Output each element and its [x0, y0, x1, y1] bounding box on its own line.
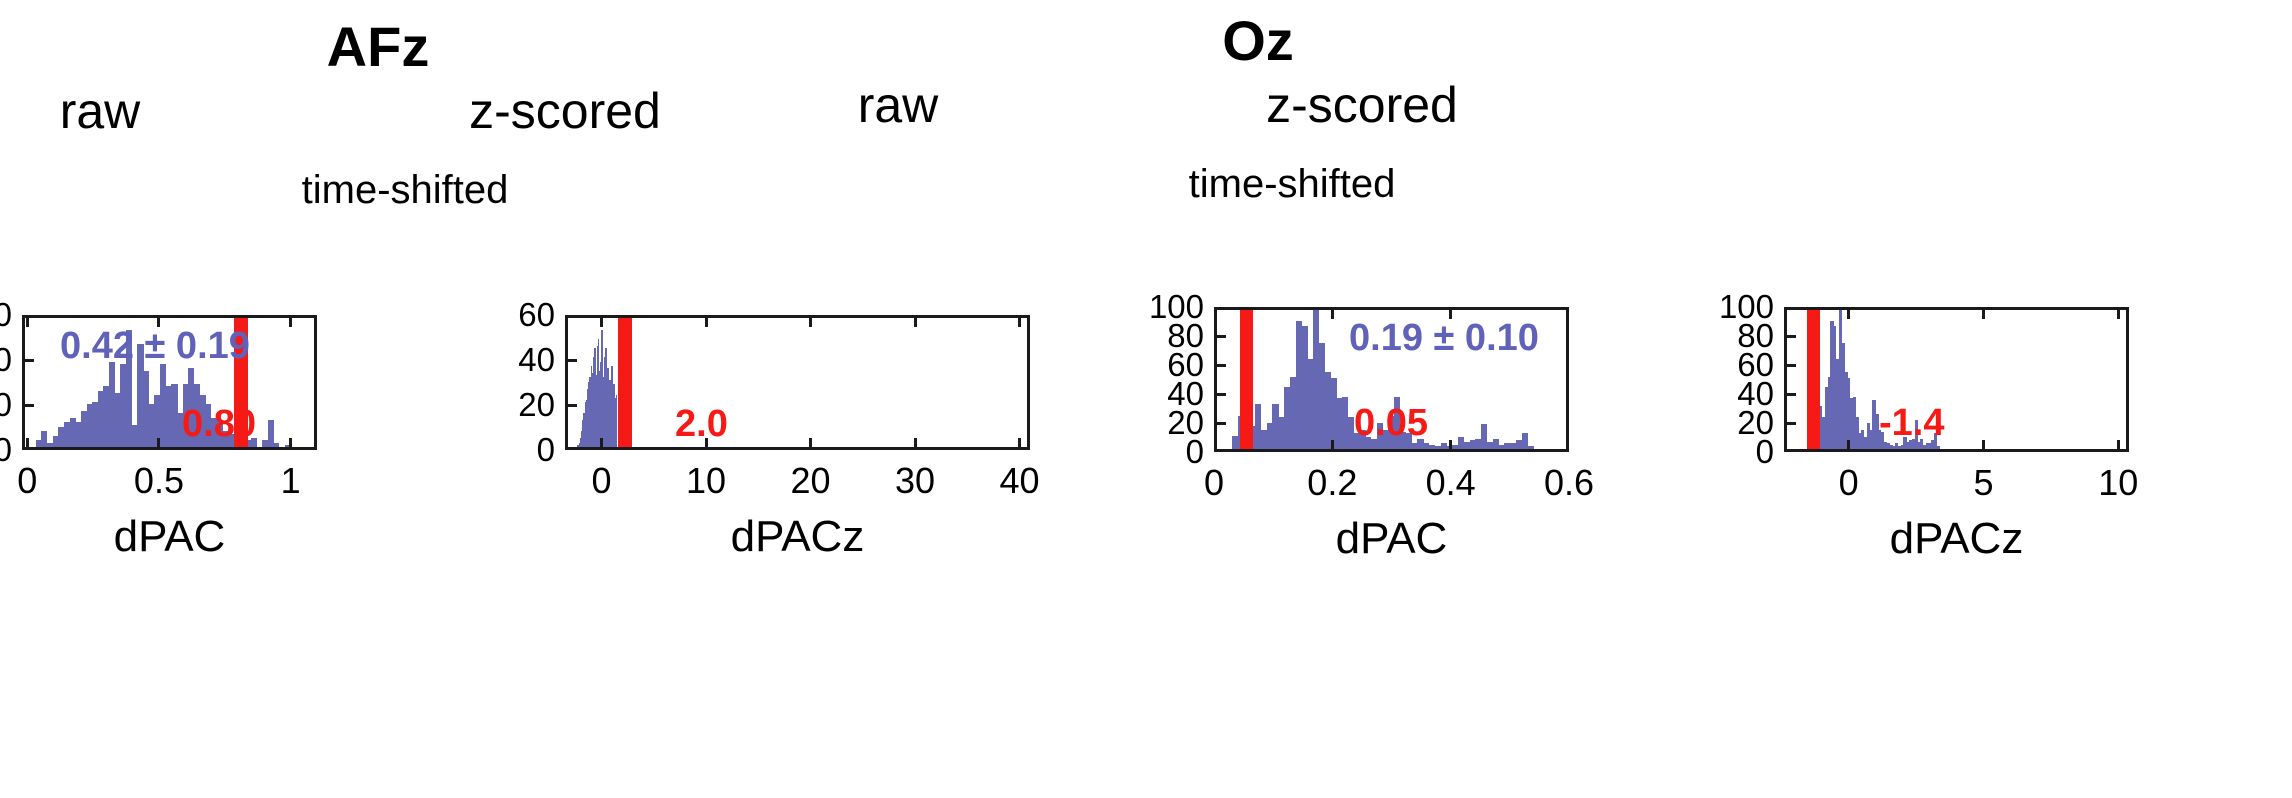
x-tick-mark-top — [705, 315, 708, 327]
x-axis-title-oz-raw: dPAC — [1336, 514, 1448, 564]
x-tick-mark-top — [1331, 307, 1334, 319]
x-tick-label: 0 — [1204, 462, 1224, 504]
x-tick-mark-top — [2117, 307, 2120, 319]
y-tick-label: 40 — [485, 341, 555, 379]
condition-title-afz-raw: raw — [0, 82, 330, 140]
x-tick-label: 0.6 — [1544, 462, 1594, 504]
observed-value-line-afz-zscored — [618, 318, 632, 447]
y-tick-mark — [1214, 393, 1226, 396]
x-axis-title-oz-zscored: dPACz — [1890, 514, 2024, 564]
x-tick-mark-top — [914, 315, 917, 327]
time-shifted-label-oz: time-shifted — [1062, 162, 1522, 207]
y-tick-mark — [1784, 335, 1796, 338]
x-tick-mark — [600, 438, 603, 450]
x-axis-title-afz-raw: dPAC — [114, 512, 226, 562]
x-tick-mark — [1449, 440, 1452, 452]
x-tick-mark-top — [1847, 307, 1850, 319]
channel-title-oz: Oz — [1028, 8, 1488, 73]
y-tick-mark — [1784, 393, 1796, 396]
x-tick-mark — [157, 438, 160, 450]
x-tick-mark — [914, 438, 917, 450]
y-tick-mark — [565, 404, 577, 407]
x-tick-mark-top — [600, 315, 603, 327]
x-tick-mark — [2117, 440, 2120, 452]
plot-area-oz-zscored — [1784, 307, 2129, 452]
histogram-bar — [1528, 446, 1534, 449]
x-tick-label: 40 — [1000, 460, 1040, 502]
x-tick-mark — [289, 438, 292, 450]
x-tick-mark — [1331, 440, 1334, 452]
bars-oz-zscored — [1787, 310, 2126, 449]
observed-value-annotation-afz-zscored: 2.0 — [675, 403, 728, 446]
y-tick-mark — [1784, 422, 1796, 425]
x-axis-title-afz-zscored: dPACz — [731, 512, 865, 562]
y-tick-label: 60 — [0, 296, 12, 334]
channel-title-afz: AFz — [148, 14, 608, 79]
histogram-panel-afz-raw: 020406000.51dPAC0.42 ± 0.190.80 — [22, 315, 317, 450]
condition-title-oz-zscored: z-scored — [1132, 76, 1592, 134]
observed-value-line-oz-zscored — [1807, 310, 1820, 449]
y-tick-label: 20 — [0, 386, 12, 424]
x-tick-mark — [26, 438, 29, 450]
mean-sd-annotation-oz-raw: 0.19 ± 0.10 — [1349, 317, 1539, 360]
x-tick-mark-top — [1018, 315, 1021, 327]
x-tick-mark — [1018, 438, 1021, 450]
x-tick-mark-top — [1982, 307, 1985, 319]
observed-value-annotation-afz-raw: 0.80 — [182, 403, 256, 446]
x-tick-label: 0.4 — [1426, 462, 1476, 504]
x-tick-label: 30 — [895, 460, 935, 502]
observed-value-annotation-oz-zscored: -1.4 — [1879, 402, 1944, 445]
y-tick-label: 40 — [0, 341, 12, 379]
x-tick-label: 0.5 — [134, 460, 184, 502]
x-tick-label: 5 — [1973, 462, 1993, 504]
x-tick-mark-top — [809, 315, 812, 327]
histogram-bar — [616, 395, 618, 447]
y-tick-mark — [22, 404, 34, 407]
observed-value-annotation-oz-raw: 0.05 — [1354, 402, 1428, 445]
histogram-panel-afz-zscored: 0204060010203040dPACz2.0 — [565, 315, 1030, 450]
x-tick-label: 0 — [17, 460, 37, 502]
x-tick-mark-top — [289, 315, 292, 327]
y-tick-label: 100 — [1704, 288, 1774, 326]
x-tick-label: 20 — [791, 460, 831, 502]
figure-root: AFz Oz raw z-scored raw z-scored time-sh… — [0, 0, 2292, 798]
x-tick-mark — [1847, 440, 1850, 452]
plot-area-afz-zscored — [565, 315, 1030, 450]
y-tick-mark — [1214, 364, 1226, 367]
y-tick-label: 60 — [485, 296, 555, 334]
condition-title-oz-raw: raw — [668, 76, 1128, 134]
x-tick-label: 10 — [2098, 462, 2138, 504]
y-tick-mark — [1214, 422, 1226, 425]
histogram-bar — [273, 443, 279, 448]
bars-afz-zscored — [568, 318, 1027, 447]
observed-value-line-oz-raw — [1240, 310, 1253, 449]
y-tick-mark — [1214, 335, 1226, 338]
x-tick-mark — [809, 438, 812, 450]
x-tick-mark-top — [26, 315, 29, 327]
y-tick-label: 20 — [485, 386, 555, 424]
histogram-panel-oz-raw: 02040608010000.20.40.6dPAC0.19 ± 0.100.0… — [1214, 307, 1569, 452]
x-tick-label: 0.2 — [1307, 462, 1357, 504]
time-shifted-label-afz: time-shifted — [175, 168, 635, 213]
histogram-panel-oz-zscored: 0204060801000510dPACz-1.4 — [1784, 307, 2129, 452]
x-tick-label: 0 — [592, 460, 612, 502]
y-tick-label: 100 — [1134, 288, 1204, 326]
histogram-bar — [1937, 446, 1940, 449]
x-tick-mark — [1982, 440, 1985, 452]
y-tick-mark — [565, 359, 577, 362]
y-tick-mark — [1784, 364, 1796, 367]
y-tick-label: 0 — [485, 431, 555, 469]
x-tick-label: 1 — [281, 460, 301, 502]
x-tick-label: 10 — [686, 460, 726, 502]
x-tick-label: 0 — [1839, 462, 1859, 504]
mean-sd-annotation-afz-raw: 0.42 ± 0.19 — [60, 325, 250, 368]
y-tick-label: 0 — [0, 431, 12, 469]
y-tick-mark — [22, 359, 34, 362]
